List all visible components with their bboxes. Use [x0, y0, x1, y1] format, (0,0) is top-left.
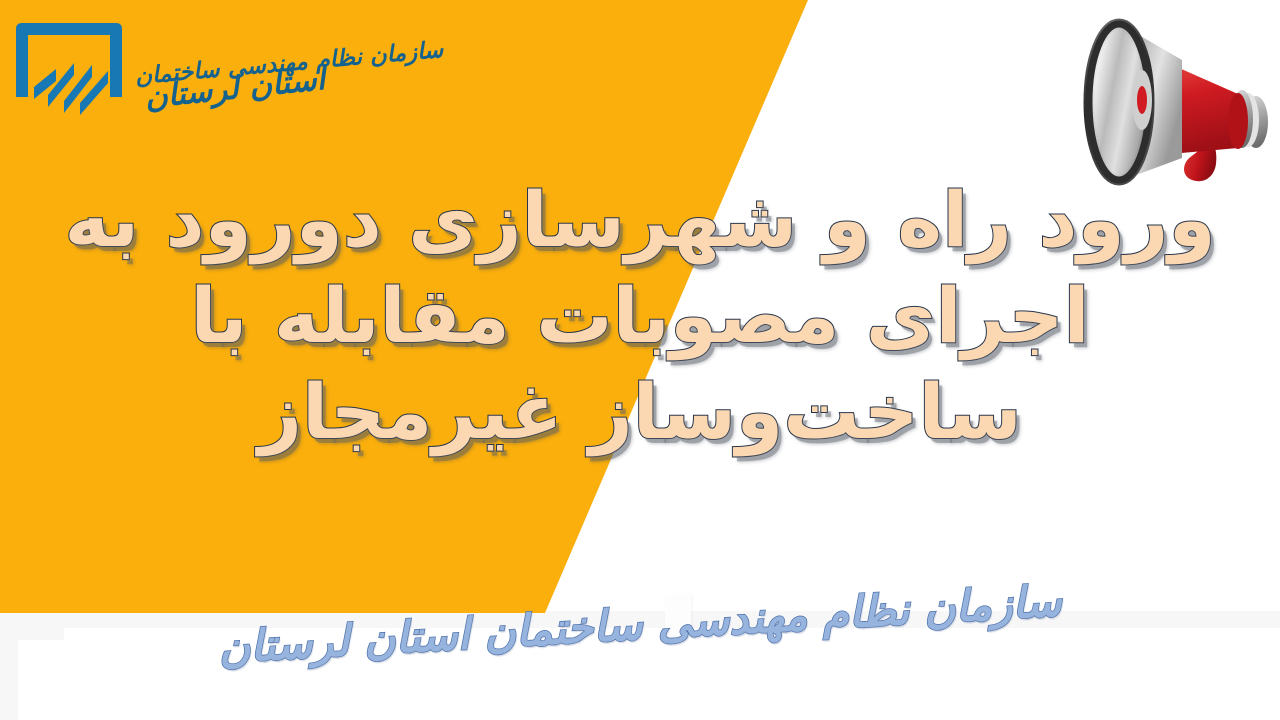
megaphone-icon: [1072, 2, 1280, 202]
organization-wordmark: سازمان نظام مهندسی ساختمان استان لرستان: [134, 38, 445, 97]
organization-logo: سازمان نظام مهندسی ساختمان استان لرستان: [8, 8, 358, 126]
background-white-card-lower: [64, 628, 1280, 720]
poster-canvas: سازمان نظام مهندسی ساختمان استان لرستان: [0, 0, 1280, 720]
background-white-chip: [665, 594, 691, 636]
building-frame-logo-icon: [8, 17, 130, 117]
